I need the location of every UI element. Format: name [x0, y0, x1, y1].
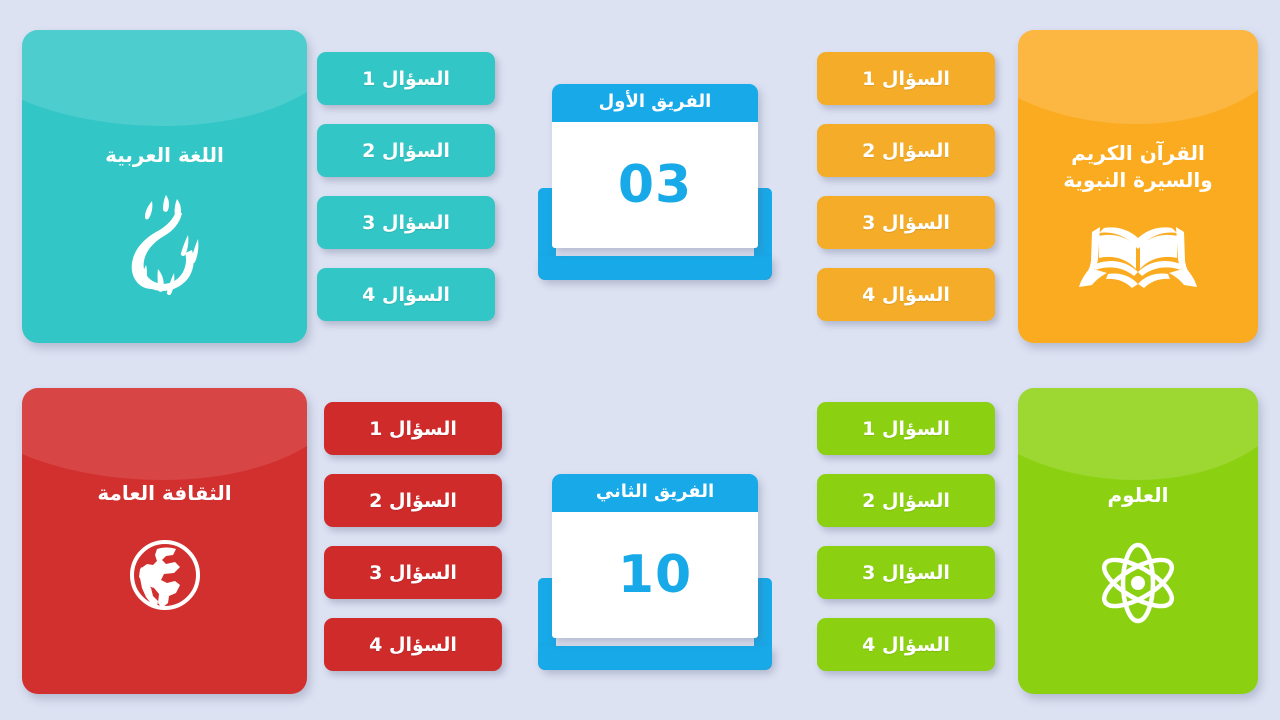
category-title-arabic: اللغة العربية — [22, 142, 307, 169]
question-button-quran-1[interactable]: السؤال 1 — [817, 52, 995, 105]
quiz-board: اللغة العربية السؤال 1 السؤال 2 السؤال 3… — [0, 0, 1280, 720]
question-button-culture-2[interactable]: السؤال 2 — [324, 474, 502, 527]
question-button-science-3[interactable]: السؤال 3 — [817, 546, 995, 599]
category-card-science[interactable]: العلوم — [1018, 388, 1258, 694]
question-column-science: السؤال 1 السؤال 2 السؤال 3 السؤال 4 — [817, 402, 995, 671]
category-title-science: العلوم — [1018, 482, 1258, 509]
question-button-science-4[interactable]: السؤال 4 — [817, 618, 995, 671]
category-card-arabic[interactable]: اللغة العربية — [22, 30, 307, 343]
question-button-culture-4[interactable]: السؤال 4 — [324, 618, 502, 671]
question-column-culture: السؤال 1 السؤال 2 السؤال 3 السؤال 4 — [324, 402, 502, 671]
category-title-culture: الثقافة العامة — [22, 480, 307, 507]
team-score-value-one: 03 — [618, 159, 692, 211]
question-button-arabic-1[interactable]: السؤال 1 — [317, 52, 495, 105]
team-card-two: الفريق الثاني 10 — [552, 474, 758, 638]
team-card-one: الفريق الأول 03 — [552, 84, 758, 248]
category-card-culture[interactable]: الثقافة العامة — [22, 388, 307, 694]
team-score-body-two: 10 — [552, 512, 758, 638]
question-column-quran: السؤال 1 السؤال 2 السؤال 3 السؤال 4 — [817, 52, 995, 321]
atom-icon — [1093, 539, 1183, 627]
question-button-arabic-2[interactable]: السؤال 2 — [317, 124, 495, 177]
question-column-arabic: السؤال 1 السؤال 2 السؤال 3 السؤال 4 — [317, 52, 495, 321]
question-button-quran-2[interactable]: السؤال 2 — [817, 124, 995, 177]
team-score-body-one: 03 — [552, 122, 758, 248]
team-name-one: الفريق الأول — [552, 84, 758, 122]
team-score-panel-two[interactable]: الفريق الثاني 10 — [538, 474, 772, 670]
question-button-culture-1[interactable]: السؤال 1 — [324, 402, 502, 455]
question-button-culture-3[interactable]: السؤال 3 — [324, 546, 502, 599]
arabic-dhad-calligraphy-icon — [122, 191, 208, 295]
question-button-arabic-3[interactable]: السؤال 3 — [317, 196, 495, 249]
ribbon-bottom — [538, 256, 772, 280]
team-score-panel-one[interactable]: الفريق الأول 03 — [538, 84, 772, 280]
team-score-value-two: 10 — [618, 549, 692, 601]
globe-icon — [127, 537, 203, 613]
category-card-quran[interactable]: القرآن الكريم والسيرة النبوية — [1018, 30, 1258, 343]
team-name-two: الفريق الثاني — [552, 474, 758, 512]
open-quran-book-icon — [1078, 216, 1198, 292]
category-title-quran-line2: والسيرة النبوية — [1028, 167, 1248, 194]
ribbon-bottom — [538, 646, 772, 670]
question-button-quran-4[interactable]: السؤال 4 — [817, 268, 995, 321]
category-title-quran-line1: القرآن الكريم — [1028, 140, 1248, 167]
question-button-arabic-4[interactable]: السؤال 4 — [317, 268, 495, 321]
question-button-quran-3[interactable]: السؤال 3 — [817, 196, 995, 249]
category-title-quran: القرآن الكريم والسيرة النبوية — [1018, 140, 1258, 194]
card-wave-decoration — [22, 30, 307, 160]
question-button-science-2[interactable]: السؤال 2 — [817, 474, 995, 527]
question-button-science-1[interactable]: السؤال 1 — [817, 402, 995, 455]
